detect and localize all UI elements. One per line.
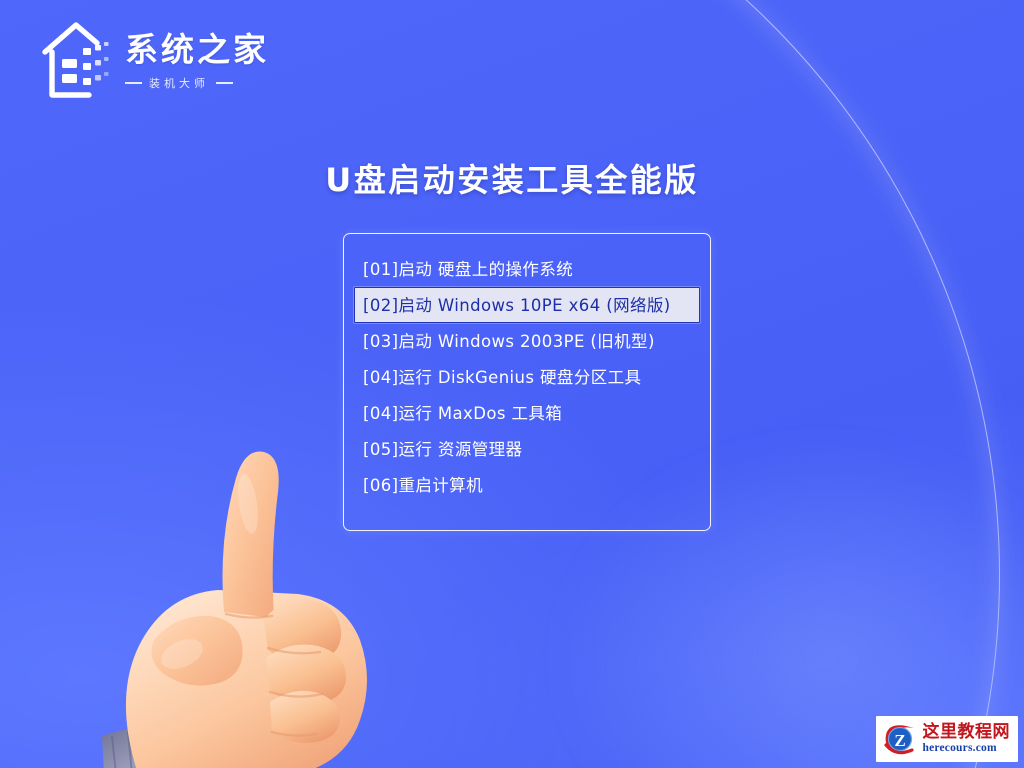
watermark-site-name: 这里教程网 bbox=[923, 724, 1011, 742]
watermark-url: herecours.com bbox=[923, 742, 1011, 754]
index-finger bbox=[223, 452, 279, 618]
brand-subtitle-row: 装机大师 bbox=[125, 75, 269, 91]
svg-text:Z: Z bbox=[894, 731, 905, 750]
watermark-text: 这里教程网 herecours.com bbox=[923, 724, 1011, 755]
watermark: Z 这里教程网 herecours.com bbox=[876, 716, 1019, 762]
brand-subtitle: 装机大师 bbox=[149, 75, 209, 91]
dash-right-icon bbox=[216, 82, 233, 83]
pointing-hand-illustration bbox=[98, 444, 458, 768]
menu-item-01[interactable]: [01]启动 硬盘上的操作系统 bbox=[354, 251, 700, 287]
z-circle-logo-icon: Z bbox=[882, 721, 918, 757]
brand-logo-text: 系统之家 装机大师 bbox=[125, 29, 269, 91]
menu-item-02[interactable]: [02]启动 Windows 10PE x64 (网络版) bbox=[354, 287, 700, 323]
menu-item-03[interactable]: [03]启动 Windows 2003PE (旧机型) bbox=[354, 323, 700, 359]
house-chip-logo-icon bbox=[40, 18, 114, 102]
menu-item-04-maxdos[interactable]: [04]运行 MaxDos 工具箱 bbox=[354, 395, 700, 431]
menu-item-04-diskgenius[interactable]: [04]运行 DiskGenius 硬盘分区工具 bbox=[354, 359, 700, 395]
page-title: U盘启动安装工具全能版 bbox=[0, 155, 1024, 201]
brand-logo: 系统之家 装机大师 bbox=[40, 18, 269, 102]
brand-name: 系统之家 bbox=[125, 33, 269, 68]
dash-left-icon bbox=[125, 82, 142, 83]
